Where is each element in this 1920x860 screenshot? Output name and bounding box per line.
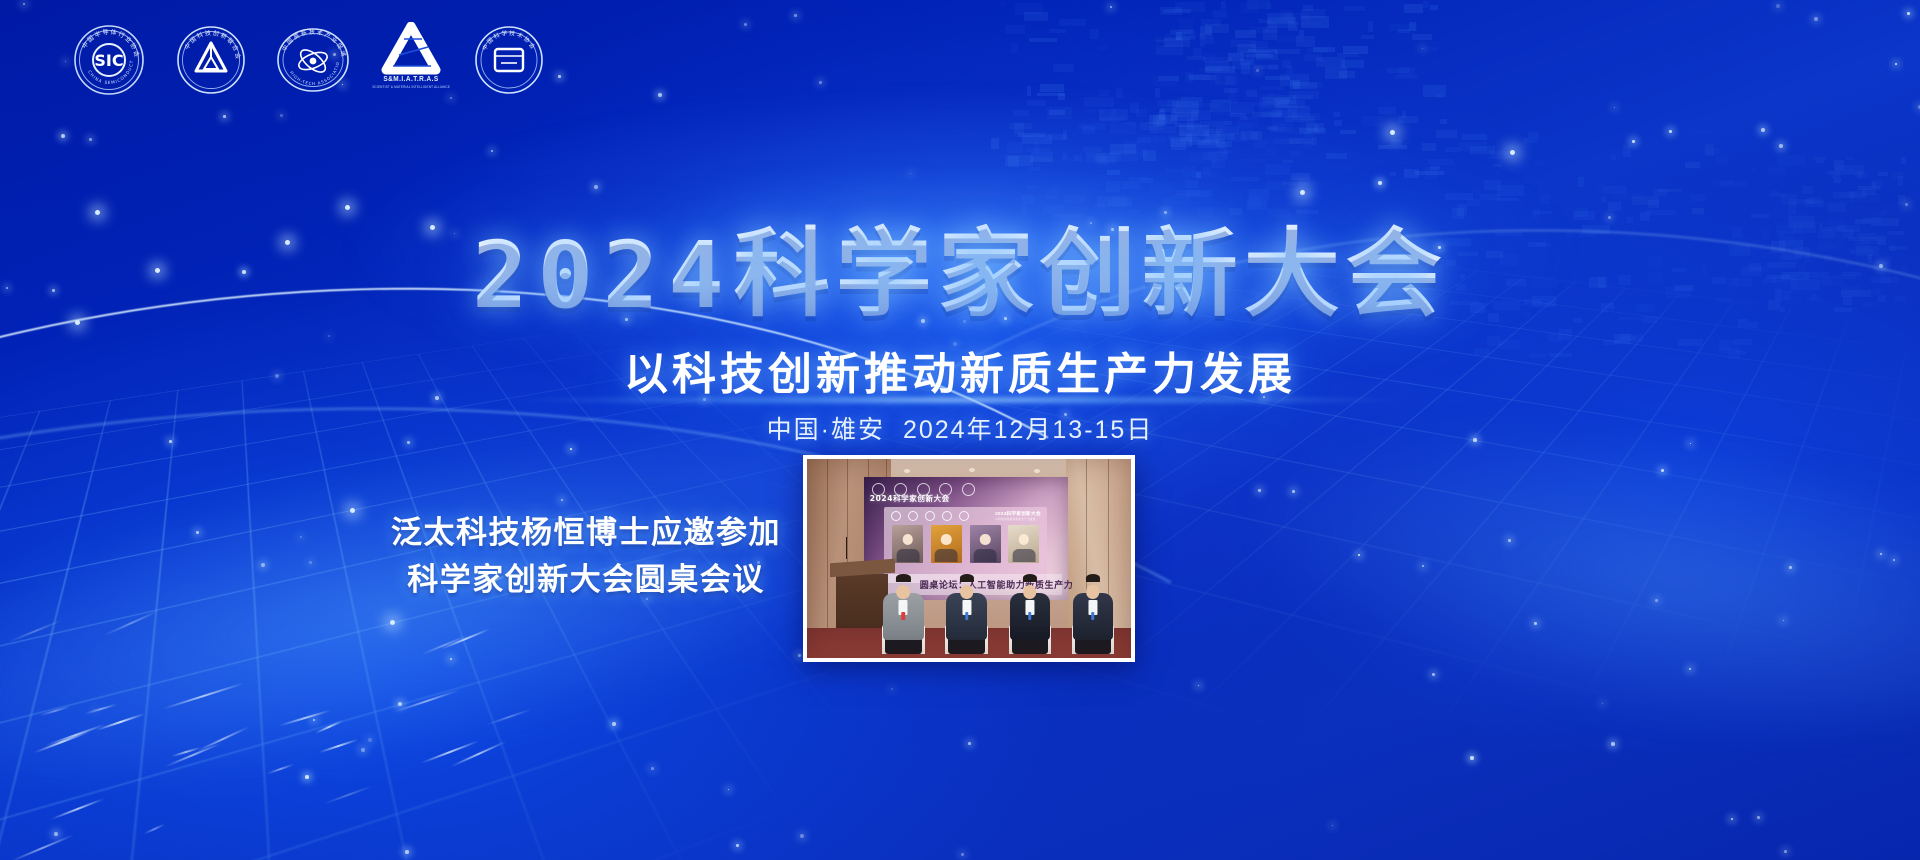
particle	[300, 536, 302, 538]
particle	[891, 688, 893, 690]
particle	[798, 654, 801, 657]
photo-content: 2024科学家创新大会 2024科学家创新大会 以科技创新推动新质生产力发展	[807, 459, 1131, 658]
particle	[570, 448, 572, 450]
particle	[1198, 685, 1199, 686]
light-streak	[279, 709, 331, 726]
particle	[1258, 489, 1261, 492]
page-title: 2024科学家创新大会	[0, 196, 1920, 335]
particle	[1611, 742, 1615, 746]
particle	[1256, 69, 1259, 72]
light-streak	[450, 740, 506, 767]
particle	[1422, 565, 1424, 567]
particle	[368, 738, 372, 742]
light-streak	[39, 706, 70, 717]
particle	[1731, 818, 1733, 820]
particle	[1632, 140, 1635, 143]
particle	[1895, 63, 1897, 65]
triangle-logo-sublabel: SCIENTIST & MATERIAL INTELLIGENT ALLIANC…	[372, 85, 450, 89]
particle	[1757, 816, 1760, 819]
caption-line-2: 科学家创新大会圆桌会议	[384, 557, 788, 604]
event-dateline: 中国·雄安2024年12月13-15日	[0, 410, 1920, 446]
particle	[280, 114, 283, 117]
particle	[1332, 825, 1333, 826]
particle	[1779, 144, 1783, 148]
logo-row: SIC 中国半导体行业协会 CHINA SEMICONDUCTOR	[72, 22, 546, 98]
light-streak	[421, 634, 469, 655]
caption-line-1: 泛太科技杨恒博士应邀参加	[384, 510, 788, 557]
triangle-logo: S&M.I.A.T.R.A.S SCIENTIST & MATERIAL INT…	[378, 22, 444, 98]
particle	[1907, 12, 1910, 15]
event-location: 中国·雄安	[767, 416, 885, 444]
light-streak	[486, 708, 532, 726]
particle	[744, 23, 747, 26]
particle	[1422, 48, 1423, 49]
light-streak	[51, 798, 105, 820]
light-streak	[319, 739, 359, 754]
particle	[1110, 6, 1112, 8]
light-streak	[441, 628, 491, 650]
particle	[558, 75, 561, 78]
particle	[1776, 4, 1780, 8]
light-streak	[165, 743, 221, 768]
particle	[1814, 17, 1818, 21]
particle	[1602, 703, 1603, 704]
title-main: 科学家创新大会	[734, 218, 1448, 330]
particle	[1661, 469, 1664, 472]
event-caption: 泛太科技杨恒博士应邀参加 科学家创新大会圆桌会议	[384, 510, 788, 603]
particle	[1470, 756, 1474, 760]
triangle-logo-label: S&M.I.A.T.R.A.S	[383, 76, 438, 84]
title-year: 2024	[472, 222, 734, 329]
particle	[361, 748, 365, 752]
light-streak	[323, 785, 373, 805]
particle	[261, 563, 265, 567]
particle	[61, 134, 65, 138]
light-streak	[8, 619, 63, 643]
particle	[1689, 668, 1691, 670]
light-streak	[45, 724, 105, 747]
particle	[612, 722, 616, 726]
particle	[328, 335, 330, 337]
particle	[1655, 599, 1658, 602]
particle	[223, 115, 226, 118]
light-streak	[266, 763, 294, 774]
particle	[961, 853, 964, 856]
light-streak	[315, 720, 343, 734]
particle	[1292, 490, 1295, 493]
particle	[968, 742, 971, 745]
particle	[658, 93, 662, 97]
conference-poster: SIC 中国半导体行业协会 CHINA SEMICONDUCTOR	[0, 0, 1920, 860]
svg-text:SIC: SIC	[94, 51, 123, 70]
seal-logo-atom: 中国高新技术产业促进会 HIGH-TECH ASSOCIATION	[276, 23, 350, 97]
particle	[1432, 673, 1435, 676]
seal-logo-shield: 中国科学技术协会	[472, 23, 546, 97]
particle	[196, 531, 199, 534]
light-streak	[196, 726, 249, 752]
page-subtitle: 以科技创新推动新质生产力发展	[0, 338, 1920, 402]
particle	[736, 844, 739, 847]
particle	[23, 3, 25, 5]
particle	[405, 850, 409, 854]
particle	[594, 185, 598, 189]
particle	[398, 702, 402, 706]
particle	[651, 767, 654, 770]
light-streak	[163, 682, 245, 709]
particle	[794, 14, 797, 17]
roundtable-panel-photo: 2024科学家创新大会 2024科学家创新大会 以科技创新推动新质生产力发展	[803, 455, 1135, 662]
particle-bright	[1510, 150, 1515, 155]
particle	[313, 719, 315, 721]
particle	[1358, 554, 1360, 556]
particle	[450, 658, 452, 660]
particle	[1880, 553, 1882, 555]
particle	[1893, 559, 1895, 561]
light-streak	[171, 747, 200, 758]
particle-bright	[1390, 130, 1395, 135]
particle	[728, 789, 729, 790]
particle	[1669, 130, 1672, 133]
particle	[65, 61, 66, 62]
particle	[910, 173, 911, 174]
light-streak	[84, 703, 117, 714]
particle	[1378, 181, 1382, 185]
seal-logo-triangle: 中国科技创新联合会	[174, 23, 248, 97]
photo-vignette	[807, 459, 1131, 658]
data-block-texture-top-center	[990, 0, 1460, 180]
particle	[800, 834, 804, 838]
particle	[1614, 107, 1615, 108]
light-streak	[144, 823, 166, 834]
particle-bright	[350, 508, 355, 513]
light-streak	[394, 689, 459, 712]
particle	[1761, 128, 1765, 132]
light-streak	[103, 610, 159, 637]
light-streak	[34, 730, 91, 753]
light-streak	[421, 740, 480, 764]
particle	[1783, 620, 1784, 621]
particle	[94, 709, 95, 710]
light-streak	[96, 713, 145, 731]
particle	[1508, 539, 1511, 542]
event-date: 2024年12月13-15日	[903, 416, 1153, 444]
particle	[1534, 622, 1537, 625]
particle	[491, 150, 493, 152]
light-streak	[10, 834, 74, 860]
data-block-texture-top-right	[1150, 0, 1330, 150]
particle	[1784, 850, 1787, 853]
particle	[1789, 566, 1792, 569]
particle	[309, 561, 312, 564]
particle	[819, 81, 822, 84]
particle-bright	[1300, 190, 1305, 195]
seal-logo-sic: SIC 中国半导体行业协会 CHINA SEMICONDUCTOR	[72, 23, 146, 97]
particle	[89, 138, 92, 141]
particle	[305, 775, 309, 779]
particle-bright	[390, 620, 395, 625]
triangle-mark-icon	[381, 22, 441, 76]
particle	[54, 832, 58, 836]
particle	[561, 499, 563, 501]
